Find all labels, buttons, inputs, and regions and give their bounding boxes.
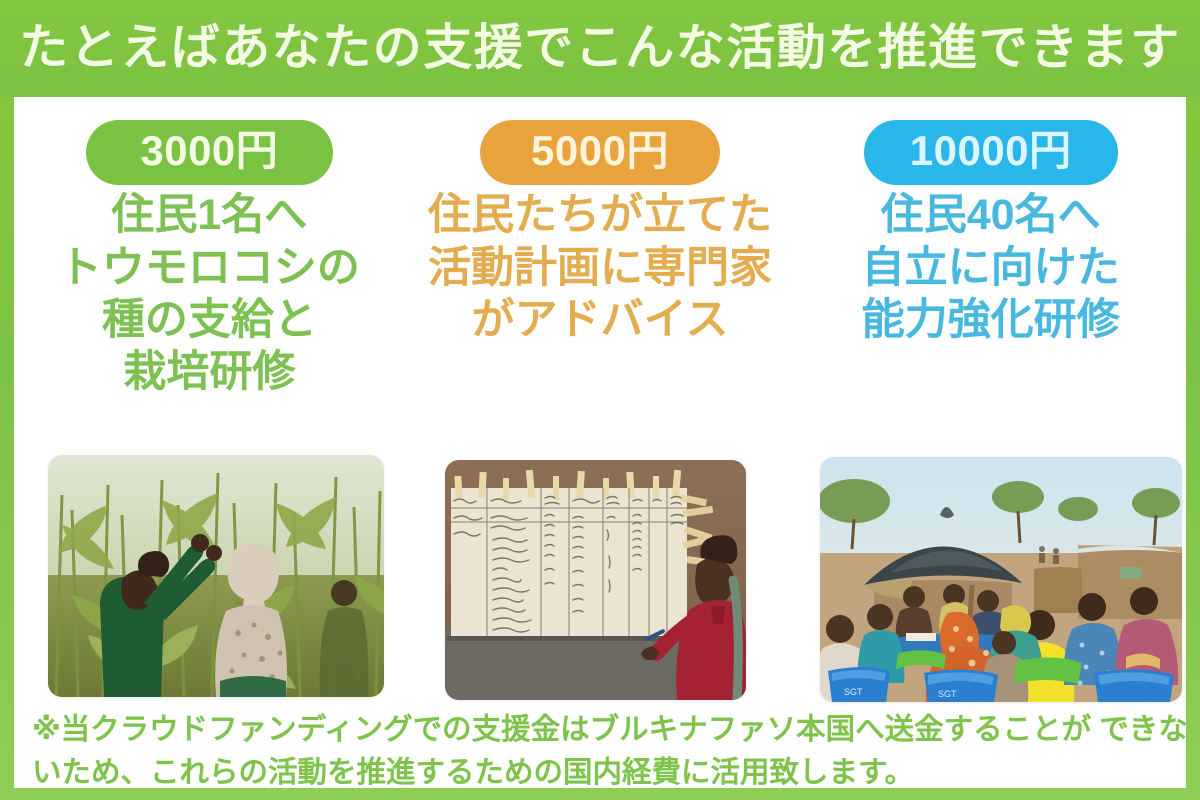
community-meeting-illustration: SGT SGT (820, 457, 1182, 702)
poster-content: 3000円 住民1名へ トウモロコシの 種の支給と 栽培研修 5000円 住民た… (14, 97, 1186, 788)
tier-line: 住民1名へ (59, 189, 360, 241)
poster-header: たとえばあなたの支援でこんな活動を推進できます (0, 0, 1200, 97)
tier-amount-badge-5000: 5000円 (480, 120, 720, 185)
promo-poster: たとえばあなたの支援でこんな活動を推進できます 3000円 住民1名へ トウモロ… (0, 0, 1200, 800)
tier-line: がアドバイス (428, 294, 772, 346)
tier-line: 活動計画に専門家 (428, 242, 772, 294)
tier-description-3000: 住民1名へ トウモロコシの 種の支給と 栽培研修 (59, 189, 360, 399)
maize-field-training-photo (48, 455, 384, 697)
tier-line: 住民たちが立てた (428, 189, 772, 241)
tier-line: 自立に向けた (862, 242, 1120, 294)
tier-line: 能力強化研修 (862, 294, 1120, 346)
tier-line: 種の支給と (59, 294, 360, 346)
tier-amount-badge-10000: 10000円 (864, 120, 1118, 185)
chair-marking: SGT (844, 687, 863, 697)
tier-line: 栽培研修 (59, 346, 360, 398)
funding-disclaimer-note: ※当クラウドファンディングでの支援金はブルキナファソ本国へ送金することが できな… (32, 709, 1172, 795)
maize-field-illustration (48, 455, 384, 697)
page-title: たとえばあなたの支援でこんな活動を推進できます (19, 24, 1181, 73)
tier-description-5000: 住民たちが立てた 活動計画に専門家 がアドバイス (428, 189, 772, 346)
note-line: ※当クラウドファンディングでの支援金はブルキナファソ本国へ送金することが できな (32, 709, 1172, 752)
tier-line: トウモロコシの (59, 242, 360, 294)
village-community-meeting-photo: SGT SGT (820, 457, 1182, 702)
tier-amount-badge-3000: 3000円 (86, 120, 333, 185)
chair-marking: SGT (938, 689, 957, 699)
note-line: いため、これらの活動を推進するための国内経費に活用致します。 (32, 752, 1172, 795)
tier-description-10000: 住民40名へ 自立に向けた 能力強化研修 (862, 189, 1120, 346)
planning-board-illustration (445, 460, 746, 700)
tier-line: 住民40名へ (862, 189, 1120, 241)
activity-plan-board-photo (445, 460, 746, 700)
